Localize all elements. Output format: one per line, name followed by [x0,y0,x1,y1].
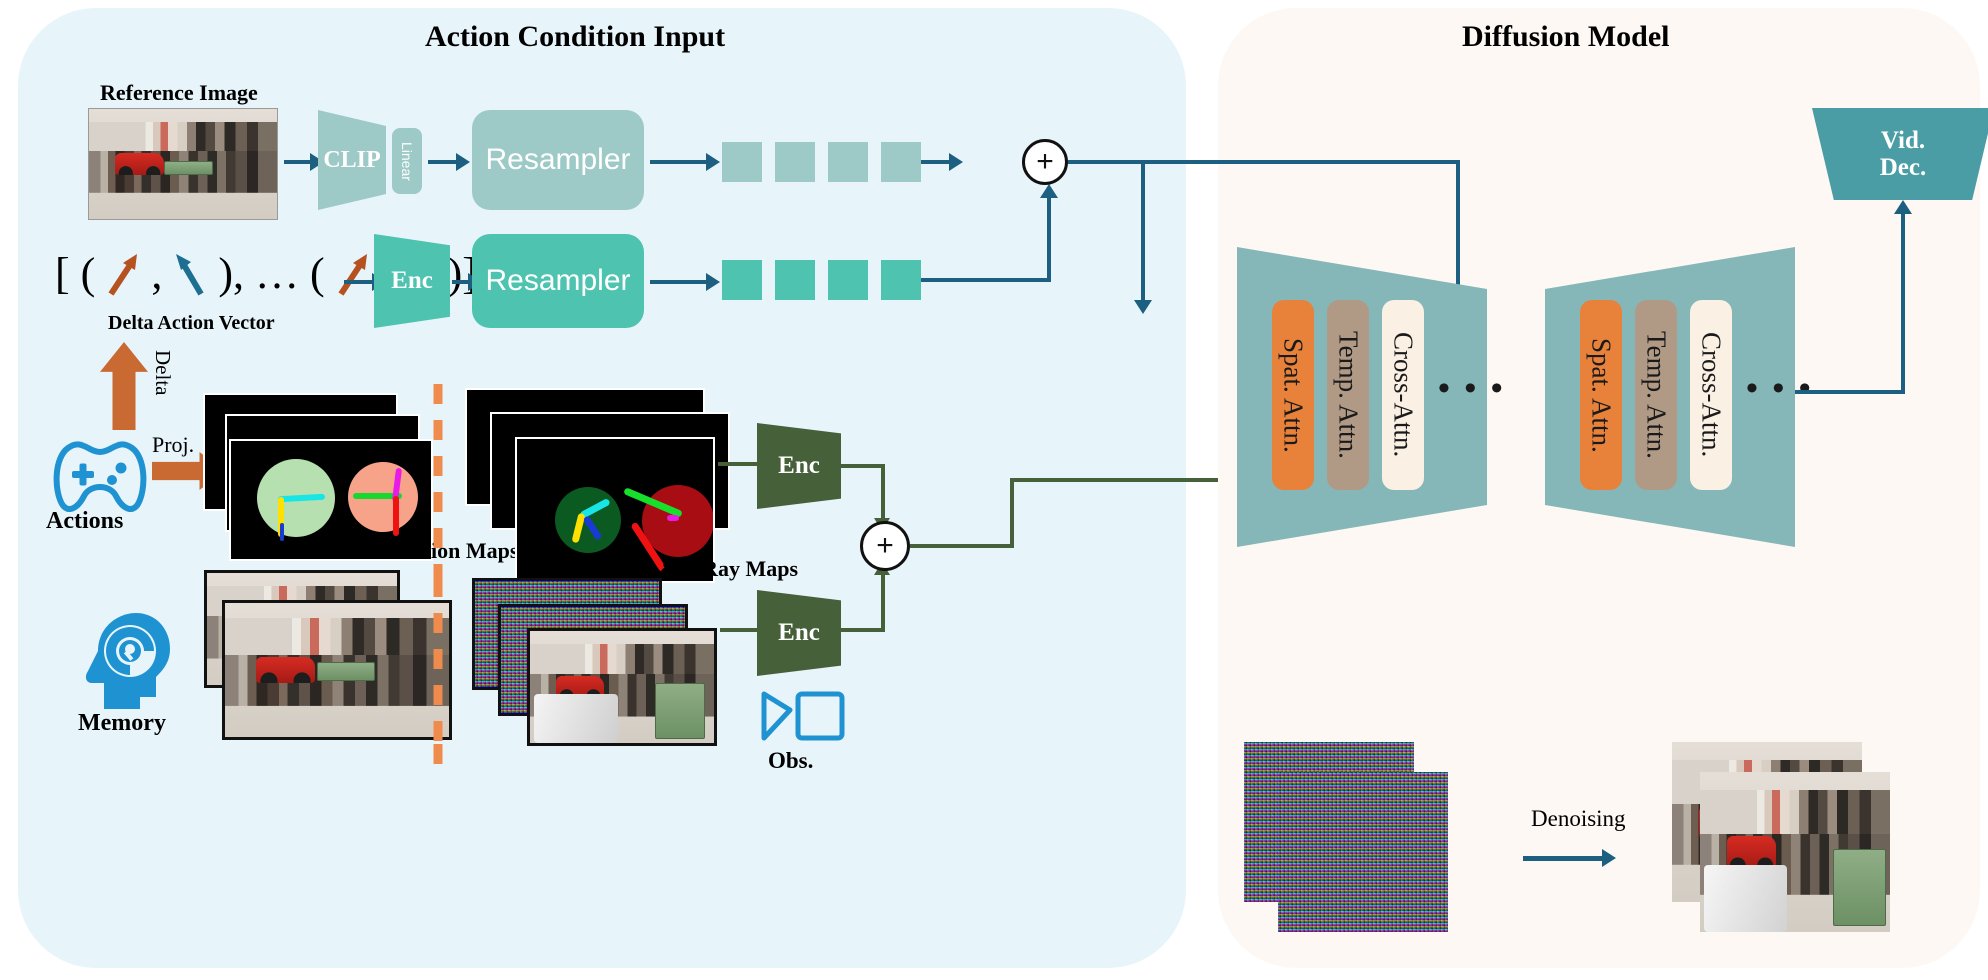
reference-image-thumbnail [88,108,278,220]
obs-label: Obs. [768,748,813,774]
line-action-tokens-right [921,278,1051,282]
arrowhead [949,153,963,171]
ellipsis-unet-1: • • • [1438,370,1506,408]
arrow-resampler-action-to-tokens [650,280,708,284]
line-latent-up [1010,478,1014,548]
spat-attn-label-1: Spat. Attn. [1278,338,1309,453]
proj-label: Proj. [152,432,194,458]
arrow-down-right-blue-icon [173,252,207,298]
image-token-4 [881,142,921,182]
delta-arrow-label: Delta [150,350,175,401]
page-title-right: Diffusion Model [1462,20,1670,54]
resampler-action-block: Resampler [472,234,644,328]
arrow-up-right-orange-icon-2 [336,252,370,298]
arrowhead [1134,300,1152,314]
arrow-ref-to-clip [284,160,312,164]
plus-symbol: + [876,529,894,563]
ray-maps-label: && Ray Maps [660,556,798,582]
line-condition-branch-1 [1141,160,1145,304]
cross-attn-block-1: Cross-Attn. [1382,300,1424,490]
line-unet-out-right [1795,390,1905,394]
arrowhead [1894,200,1912,214]
action-token-2 [775,260,815,300]
enc-obs-label: Enc [778,619,820,647]
action-maps-label: Action Maps [398,538,518,564]
temp-attn-block-2: Temp. Attn. [1635,300,1677,490]
arrow-linear-to-resampler [428,160,458,164]
arrowhead [456,153,470,171]
arrow-resampler-to-tokens [650,160,708,164]
cross-attn-label-1: Cross-Attn. [1388,332,1419,457]
delta-text: Delta [150,350,175,395]
clip-label: CLIP [323,147,380,174]
linear-label: Linear [399,142,415,181]
spat-attn-block-1: Spat. Attn. [1272,300,1314,490]
arrowhead [706,273,720,291]
camera-icon [760,688,846,749]
enc-action-label: Enc [391,267,433,295]
line-latent-to-unet-right [910,544,1014,548]
obs-encoder-block: Enc [757,590,841,676]
linear-block: Linear [392,128,422,194]
line-enc-obs-right [841,628,885,632]
line-latent-to-unet [1010,478,1246,482]
line-enc-maps-right [841,464,885,468]
vid-dec-label-1: Vid. [1881,127,1925,155]
reference-image-label: Reference Image [100,80,258,106]
plus-symbol: + [1036,145,1054,179]
line-unet-out-up [1901,214,1905,394]
arrow-up-right-orange-icon [106,252,140,298]
arrow-delta-to-enc [344,280,374,284]
video-decoder-block: Vid. Dec. [1812,108,1988,200]
denoising-input-front [1278,772,1448,932]
line-condition-branch-2 [1456,160,1460,304]
image-token-1 [722,142,762,182]
arrow-obs-to-enc [720,628,760,632]
memory-label: Memory [78,710,166,737]
action-token-3 [828,260,868,300]
image-token-2 [775,142,815,182]
line-enc-maps-down [881,464,885,522]
arrow-raymaps-to-enc [718,462,760,466]
action-token-4 [881,260,921,300]
line-condition-trunk [1068,160,1460,164]
obs-clean-frame-front [527,628,717,746]
cross-attn-label-2: Cross-Attn. [1696,332,1727,457]
sum-node-condition: + [1022,139,1068,185]
resampler-image-block: Resampler [472,110,644,210]
spat-attn-block-2: Spat. Attn. [1580,300,1622,490]
arrowhead [1602,849,1616,867]
ellipsis-unet-2: • • • [1746,370,1814,408]
denoising-label: Denoising [1531,806,1626,832]
divider-dashed-2 [432,575,444,760]
resampler-action-label: Resampler [485,264,630,298]
resampler-image-label: Resampler [485,143,630,177]
temp-attn-block-1: Temp. Attn. [1327,300,1369,490]
arrowhead [706,153,720,171]
memory-icon [78,605,174,720]
temp-attn-label-2: Temp. Attn. [1641,331,1672,459]
arrowhead [1040,184,1058,198]
denoising-output-front [1700,772,1890,932]
vid-dec-label-2: Dec. [1880,154,1927,182]
image-token-3 [828,142,868,182]
delta-action-vector-label: Delta Action Vector [108,312,275,335]
actions-label: Actions [46,508,123,535]
sum-node-latent: + [860,521,910,571]
enc-maps-label: Enc [778,452,820,480]
line-action-tokens-up [1047,196,1051,282]
spat-attn-label-2: Spat. Attn. [1586,338,1617,453]
action-token-1 [722,260,762,300]
gamepad-icon [48,438,152,517]
maps-encoder-block: Enc [757,423,841,509]
clip-encoder-block: CLIP [318,110,386,210]
arrow-denoising [1523,856,1605,861]
memory-frame-front [222,600,452,740]
page-title-left: Action Condition Input [425,20,725,54]
action-encoder-block: Enc [374,234,450,328]
line-enc-obs-up [881,575,885,631]
temp-attn-label-1: Temp. Attn. [1333,331,1364,459]
cross-attn-block-2: Cross-Attn. [1690,300,1732,490]
